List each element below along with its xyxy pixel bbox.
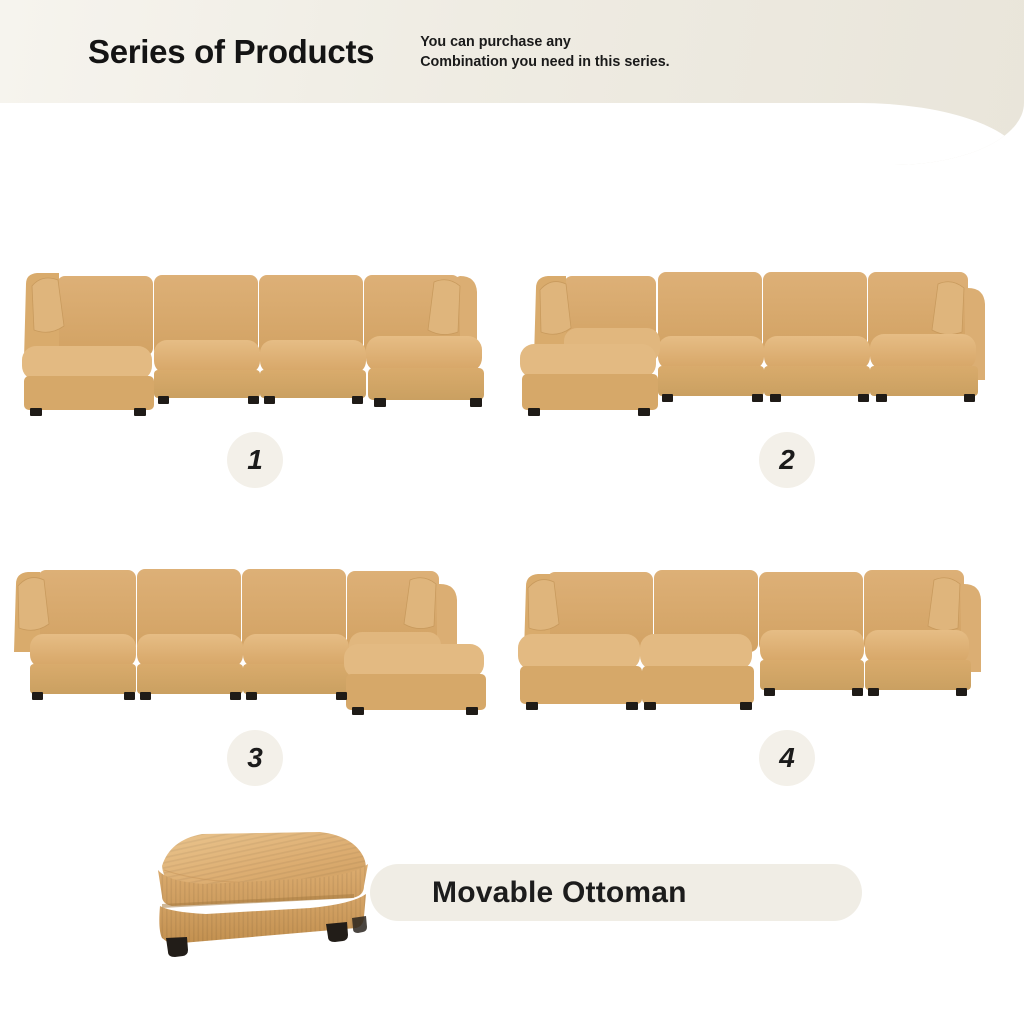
page-title: Series of Products <box>88 33 374 71</box>
badge-3[interactable]: 3 <box>227 730 283 786</box>
infographic-page: Series of Products You can purchase any … <box>0 0 1024 1024</box>
badge-1[interactable]: 1 <box>227 432 283 488</box>
ottoman-icon[interactable] <box>130 818 410 968</box>
badge-2[interactable]: 2 <box>759 432 815 488</box>
sofa-icon-1 <box>8 258 508 418</box>
subtitle-line-2: Combination you need in this series. <box>420 53 669 72</box>
ottoman-feature-label: Movable Ottoman <box>432 864 862 921</box>
sofa-icon-4 <box>512 556 1012 716</box>
sofa-icon-3 <box>8 556 508 716</box>
header-subtitle: You can purchase any Combination you nee… <box>420 33 669 71</box>
subtitle-line-1: You can purchase any <box>420 33 669 52</box>
header-content: Series of Products You can purchase any … <box>0 0 1024 103</box>
sofa-icon-2 <box>512 258 1012 418</box>
header-band: Series of Products You can purchase any … <box>0 0 1024 165</box>
badge-4[interactable]: 4 <box>759 730 815 786</box>
